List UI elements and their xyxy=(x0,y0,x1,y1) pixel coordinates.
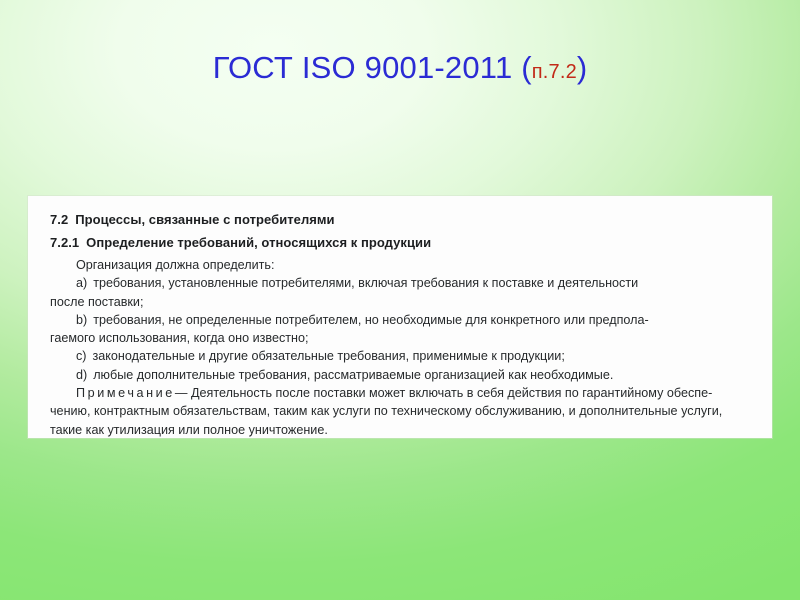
list-item-b-text-1: требования, не определенные потребителем… xyxy=(93,313,649,327)
title-clause-text: п.7.2 xyxy=(532,61,577,83)
note-text-1: Деятельность после поставки может включа… xyxy=(191,386,712,400)
list-item-d-line-1: d)любые дополнительные требования, рассм… xyxy=(50,366,750,384)
page-title: ГОСТ ISO 9001-2011 (п.7.2) xyxy=(0,52,800,83)
list-item-a-line-2: после поставки; xyxy=(50,293,750,311)
note-dash: — xyxy=(175,386,188,400)
note-label: Примечание xyxy=(76,386,175,400)
document-excerpt-card: 7.2Процессы, связанные с потребителями 7… xyxy=(28,196,772,438)
note-line-3: такие как утилизация или полное уничтоже… xyxy=(50,421,750,439)
list-marker-b: b) xyxy=(76,313,87,327)
list-item-b-line-2: гаемого использования, когда оно известн… xyxy=(50,329,750,347)
list-marker-d: d) xyxy=(76,368,87,382)
list-item-a-line-1: a)требования, установленные потребителям… xyxy=(50,274,750,292)
list-item-a: a)требования, установленные потребителям… xyxy=(50,274,750,311)
slide-canvas: ГОСТ ISO 9001-2011 (п.7.2) 7.2Процессы, … xyxy=(0,0,800,600)
section-title-7-2-1: Определение требований, относящихся к пр… xyxy=(86,235,431,250)
list-item-c-text-1: законодательные и другие обязательные тр… xyxy=(93,349,565,363)
list-item-c-line-1: c)законодательные и другие обязательные … xyxy=(50,347,750,365)
note-paragraph: Примечание— Деятельность после поставки … xyxy=(50,384,750,439)
list-item-d: d)любые дополнительные требования, рассм… xyxy=(50,366,750,384)
list-marker-a: a) xyxy=(76,276,87,290)
title-main-text: ГОСТ ISO 9001-2011 ( xyxy=(213,50,532,85)
note-line-1: Примечание— Деятельность после поставки … xyxy=(50,384,750,402)
list-item-c: c)законодательные и другие обязательные … xyxy=(50,347,750,365)
list-item-b: b)требования, не определенные потребител… xyxy=(50,311,750,348)
list-item-a-text-1: требования, установленные потребителями,… xyxy=(93,276,638,290)
title-closing-paren: ) xyxy=(577,50,587,85)
note-line-2: чению, контрактным обязательствам, таким… xyxy=(50,402,750,420)
list-marker-c: c) xyxy=(76,349,87,363)
section-title-7-2: Процессы, связанные с потребителями xyxy=(75,212,334,227)
intro-paragraph: Организация должна определить: xyxy=(50,256,750,274)
list-item-d-text-1: любые дополнительные требования, рассмат… xyxy=(93,368,613,382)
list-item-b-line-1: b)требования, не определенные потребител… xyxy=(50,311,750,329)
section-heading-7-2-1: 7.2.1Определение требований, относящихся… xyxy=(50,233,750,253)
section-number-7-2-1: 7.2.1 xyxy=(50,235,79,250)
section-number-7-2: 7.2 xyxy=(50,212,68,227)
section-heading-7-2: 7.2Процессы, связанные с потребителями xyxy=(50,210,750,230)
